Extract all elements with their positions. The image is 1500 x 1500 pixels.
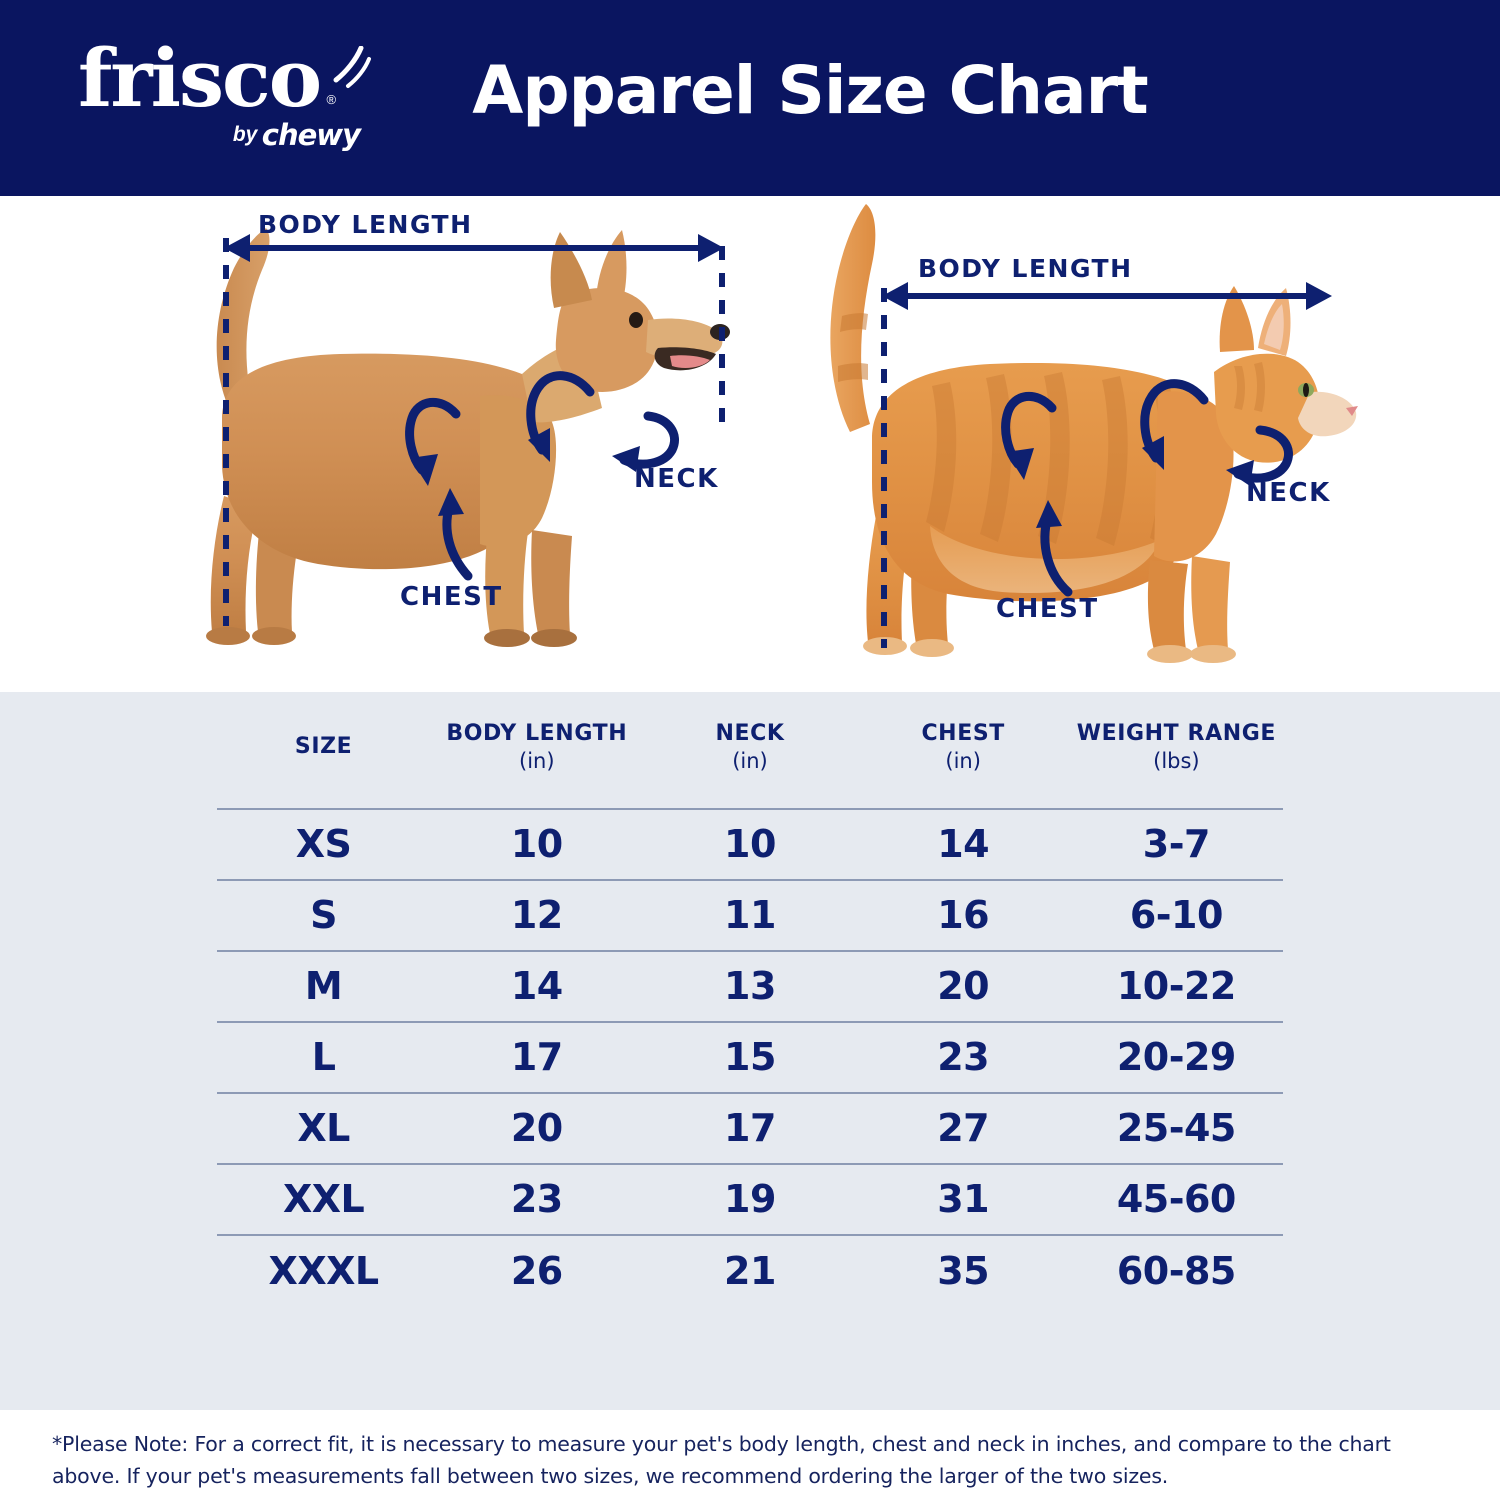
cell-weight: 6-10 xyxy=(1070,880,1283,951)
cell-body-length: 20 xyxy=(430,1093,643,1164)
cell-weight: 45-60 xyxy=(1070,1164,1283,1235)
dog-chest-label: CHEST xyxy=(400,582,503,612)
column-header-chest-label: CHEST xyxy=(921,721,1004,746)
cat-neck-label: NECK xyxy=(1246,478,1331,508)
cell-body-length: 17 xyxy=(430,1022,643,1093)
apparel-size-chart-page: frisco ® by chewy Apparel Size Chart xyxy=(0,0,1500,1500)
table-row: S 12 11 16 6-10 xyxy=(217,880,1283,951)
table-body: XS 10 10 14 3-7 S 12 11 16 6-10 M 14 13 xyxy=(217,809,1283,1306)
cell-neck: 19 xyxy=(643,1164,856,1235)
dog-annotations xyxy=(150,196,770,692)
table-header-row: SIZE BODY LENGTH (in) NECK (in) CHEST (i… xyxy=(217,712,1283,809)
column-header-body-length: BODY LENGTH (in) xyxy=(430,712,643,809)
dog-measurement-diagram: BODY LENGTH NECK CHEST xyxy=(150,196,770,692)
column-header-weight-range-unit: (lbs) xyxy=(1070,748,1283,774)
cell-body-length: 26 xyxy=(430,1235,643,1306)
cell-neck: 13 xyxy=(643,951,856,1022)
cell-body-length: 14 xyxy=(430,951,643,1022)
cell-body-length: 12 xyxy=(430,880,643,951)
column-header-weight-range: WEIGHT RANGE (lbs) xyxy=(1070,712,1283,809)
column-header-size-label: SIZE xyxy=(295,734,352,759)
cell-chest: 31 xyxy=(857,1164,1070,1235)
column-header-body-length-unit: (in) xyxy=(430,748,643,774)
cell-size: M xyxy=(217,951,430,1022)
page-header: frisco ® by chewy Apparel Size Chart xyxy=(0,0,1500,196)
cell-chest: 20 xyxy=(857,951,1070,1022)
table-row: XXXL 26 21 35 60-85 xyxy=(217,1235,1283,1306)
cell-chest: 27 xyxy=(857,1093,1070,1164)
cell-neck: 11 xyxy=(643,880,856,951)
column-header-chest: CHEST (in) xyxy=(857,712,1070,809)
dog-neck-label: NECK xyxy=(634,464,719,494)
table-row: M 14 13 20 10-22 xyxy=(217,951,1283,1022)
size-table-section: SIZE BODY LENGTH (in) NECK (in) CHEST (i… xyxy=(0,692,1500,1410)
cell-size: XS xyxy=(217,809,430,880)
cell-chest: 35 xyxy=(857,1235,1070,1306)
table-header: SIZE BODY LENGTH (in) NECK (in) CHEST (i… xyxy=(217,712,1283,809)
footnote-section: *Please Note: For a correct fit, it is n… xyxy=(0,1410,1500,1500)
cell-body-length: 23 xyxy=(430,1164,643,1235)
cell-size: XXL xyxy=(217,1164,430,1235)
table-row: L 17 15 23 20-29 xyxy=(217,1022,1283,1093)
cell-weight: 25-45 xyxy=(1070,1093,1283,1164)
cell-size: XXXL xyxy=(217,1235,430,1306)
dog-body-length-label: BODY LENGTH xyxy=(258,210,473,239)
footnote-text: *Please Note: For a correct fit, it is n… xyxy=(52,1428,1448,1493)
column-header-neck-unit: (in) xyxy=(643,748,856,774)
measurement-diagrams: BODY LENGTH NECK CHEST xyxy=(0,196,1500,692)
table-row: XXL 23 19 31 45-60 xyxy=(217,1164,1283,1235)
cell-neck: 15 xyxy=(643,1022,856,1093)
cat-chest-label: CHEST xyxy=(996,594,1099,624)
column-header-chest-unit: (in) xyxy=(857,748,1070,774)
cat-measurement-diagram: BODY LENGTH NECK CHEST xyxy=(790,196,1370,692)
column-header-neck: NECK (in) xyxy=(643,712,856,809)
cell-size: L xyxy=(217,1022,430,1093)
cell-weight: 60-85 xyxy=(1070,1235,1283,1306)
cell-size: S xyxy=(217,880,430,951)
column-header-body-length-label: BODY LENGTH xyxy=(446,721,627,746)
cell-neck: 17 xyxy=(643,1093,856,1164)
cell-weight: 3-7 xyxy=(1070,809,1283,880)
column-header-weight-range-label: WEIGHT RANGE xyxy=(1077,721,1276,746)
cell-weight: 20-29 xyxy=(1070,1022,1283,1093)
table-row: XS 10 10 14 3-7 xyxy=(217,809,1283,880)
cell-chest: 16 xyxy=(857,880,1070,951)
cell-chest: 23 xyxy=(857,1022,1070,1093)
cell-neck: 21 xyxy=(643,1235,856,1306)
page-title: Apparel Size Chart xyxy=(0,52,1500,129)
cell-chest: 14 xyxy=(857,809,1070,880)
cell-size: XL xyxy=(217,1093,430,1164)
column-header-neck-label: NECK xyxy=(715,721,784,746)
cat-body-length-label: BODY LENGTH xyxy=(918,254,1133,283)
cell-body-length: 10 xyxy=(430,809,643,880)
column-header-size: SIZE xyxy=(217,712,430,809)
cell-neck: 10 xyxy=(643,809,856,880)
apparel-size-table: SIZE BODY LENGTH (in) NECK (in) CHEST (i… xyxy=(217,712,1283,1306)
table-row: XL 20 17 27 25-45 xyxy=(217,1093,1283,1164)
cell-weight: 10-22 xyxy=(1070,951,1283,1022)
